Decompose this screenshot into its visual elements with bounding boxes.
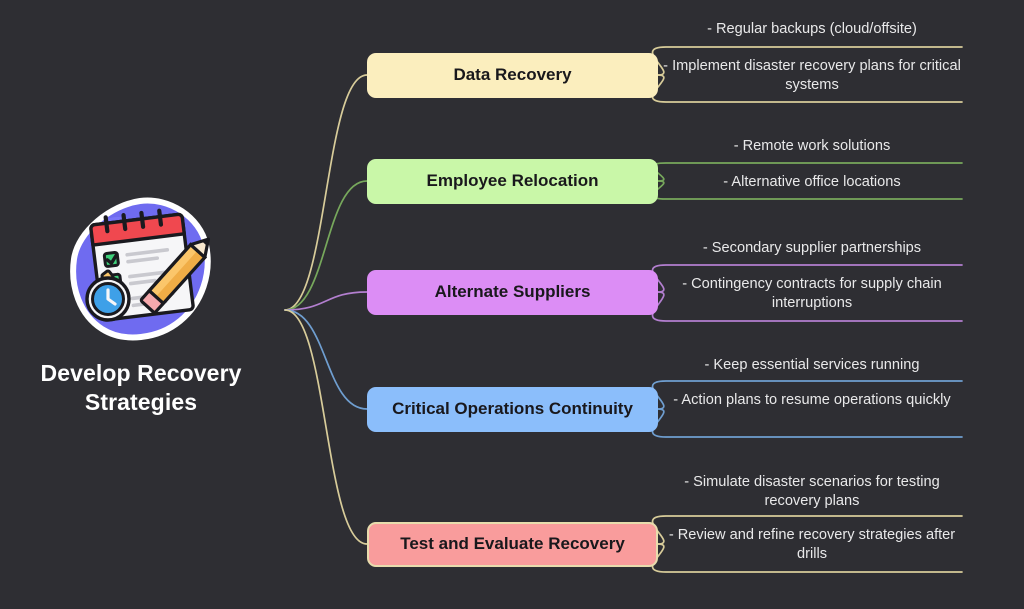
branch-node-2[interactable]: Employee Relocation [367,159,658,204]
leaf-item[interactable]: - Review and refine recovery strategies … [662,526,962,566]
mindmap-canvas: Develop Recovery Strategies Data Recover… [0,0,1024,609]
branch-node-1[interactable]: Data Recovery [367,53,658,98]
center-node[interactable]: Develop Recovery Strategies [10,195,272,417]
branch-node-label: Test and Evaluate Recovery [400,535,625,554]
leaf-label: - Implement disaster recovery plans for … [662,57,962,94]
leaf-label: - Regular backups (cloud/offsite) [662,20,962,39]
leaf-item[interactable]: - Implement disaster recovery plans for … [662,57,962,97]
leaf-item[interactable]: - Remote work solutions [662,137,962,159]
branch-node-4[interactable]: Critical Operations Continuity [367,387,658,432]
branch-node-label: Employee Relocation [427,172,599,191]
leaf-label: - Review and refine recovery strategies … [662,526,962,563]
leaf-label: - Secondary supplier partnerships [662,239,962,258]
leaf-item[interactable]: - Simulate disaster scenarios for testin… [662,473,962,513]
branch-node-label: Data Recovery [453,66,571,85]
leaf-label: - Contingency contracts for supply chain… [662,275,962,312]
leaf-label: - Alternative office locations [662,173,962,192]
branch-node-label: Alternate Suppliers [435,283,591,302]
leaf-item[interactable]: - Regular backups (cloud/offsite) [662,20,962,42]
leaf-item[interactable]: - Contingency contracts for supply chain… [662,275,962,315]
leaf-label: - Simulate disaster scenarios for testin… [662,473,962,510]
branch-node-label: Critical Operations Continuity [392,400,633,419]
branch-node-5[interactable]: Test and Evaluate Recovery [367,522,658,567]
leaf-item[interactable]: - Alternative office locations [662,173,962,195]
leaf-item[interactable]: - Action plans to resume operations quic… [662,391,962,413]
center-title: Develop Recovery Strategies [40,359,241,417]
leaf-item[interactable]: - Secondary supplier partnerships [662,239,962,261]
leaf-item[interactable]: - Keep essential services running [662,356,962,378]
leaf-label: - Keep essential services running [662,356,962,375]
leaf-label: - Remote work solutions [662,137,962,156]
branch-node-3[interactable]: Alternate Suppliers [367,270,658,315]
leaf-label: - Action plans to resume operations quic… [662,391,962,410]
checklist-clipboard-pencil-clock-icon [66,195,216,345]
